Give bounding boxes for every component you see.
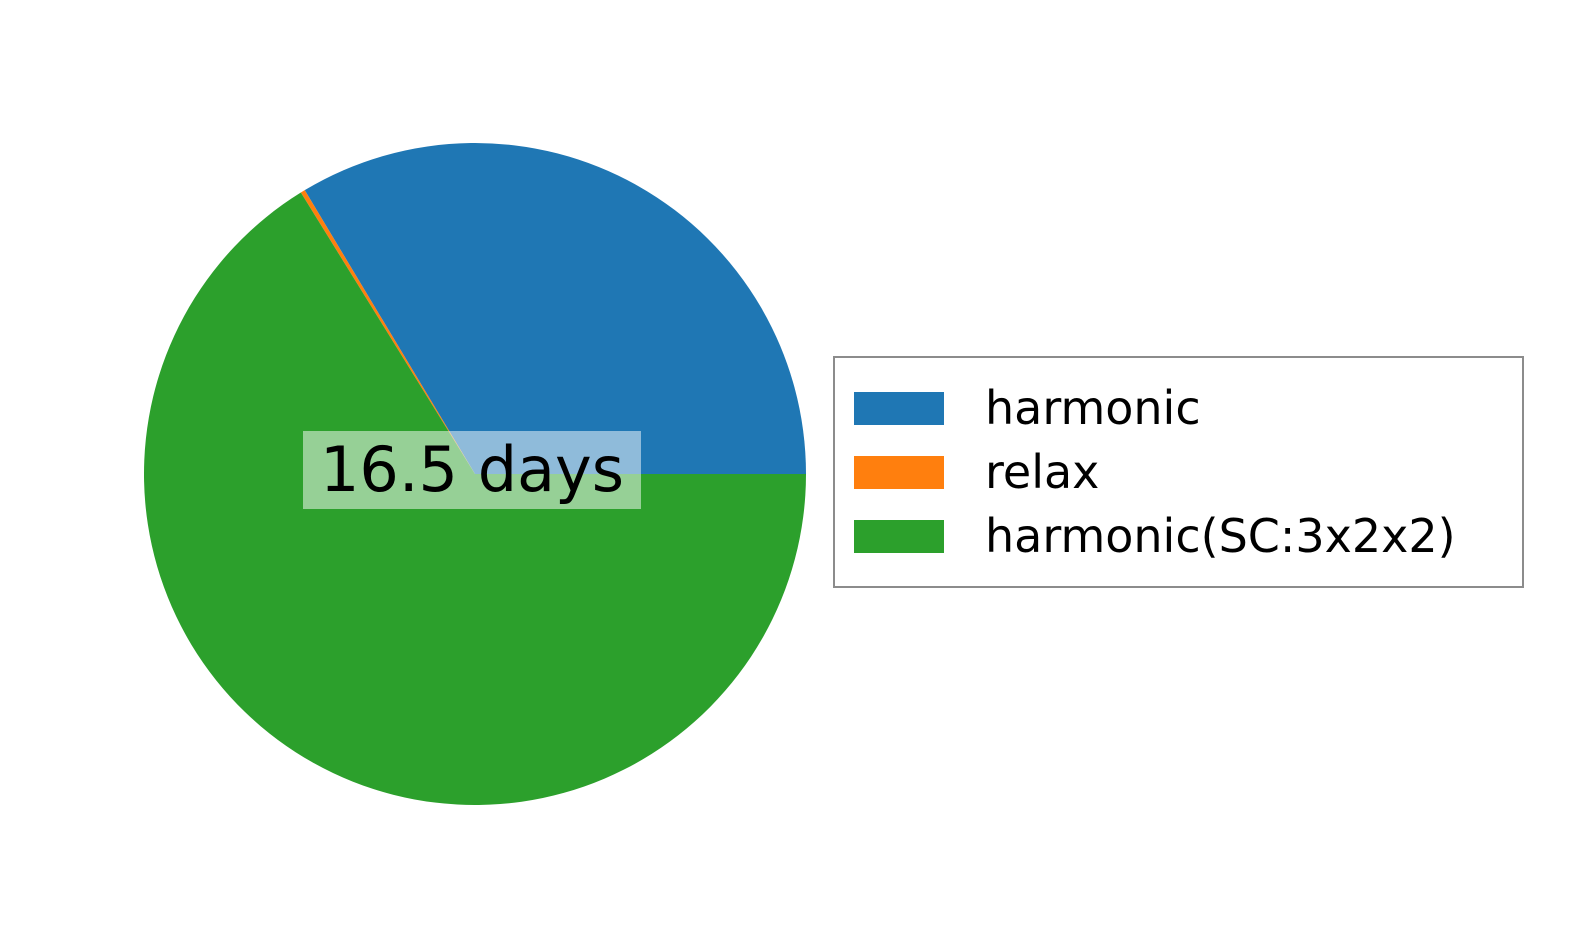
pie-chart bbox=[144, 143, 806, 805]
legend-item: relax bbox=[835, 440, 1522, 504]
figure-canvas: 16.5 days harmonicrelaxharmonic(SC:3x2x2… bbox=[0, 0, 1584, 951]
pie-wedge-group bbox=[144, 143, 806, 805]
legend-label: relax bbox=[985, 449, 1099, 495]
legend-swatch-icon bbox=[854, 392, 944, 425]
legend-entries: harmonicrelaxharmonic(SC:3x2x2) bbox=[835, 376, 1522, 568]
legend-swatch-icon bbox=[854, 456, 944, 489]
legend-item: harmonic(SC:3x2x2) bbox=[835, 504, 1522, 568]
legend-item: harmonic bbox=[835, 376, 1522, 440]
pie-svg bbox=[144, 143, 806, 805]
legend-label: harmonic(SC:3x2x2) bbox=[985, 513, 1456, 559]
legend-swatch-icon bbox=[854, 520, 944, 553]
legend-box: harmonicrelaxharmonic(SC:3x2x2) bbox=[833, 356, 1524, 588]
legend-label: harmonic bbox=[985, 385, 1201, 431]
